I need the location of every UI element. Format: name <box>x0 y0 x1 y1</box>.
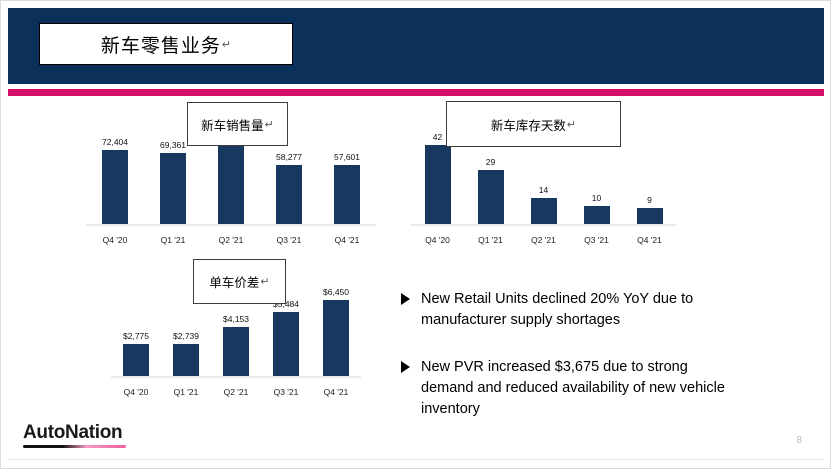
slide-title-box: 新车零售业务↵ <box>39 23 293 65</box>
bar-value-label: $2,775 <box>123 331 149 341</box>
bar-value-label: 57,601 <box>334 152 360 162</box>
category-label: Q4 '20 <box>111 387 161 397</box>
bar <box>223 327 249 377</box>
paragraph-mark-icon: ↵ <box>222 38 231 51</box>
bar-column: 57,601 <box>318 119 376 225</box>
category-label: Q2 '21 <box>202 235 260 245</box>
bar <box>123 344 149 377</box>
bar <box>276 165 302 225</box>
bar-value-label: $4,153 <box>223 314 249 324</box>
bar <box>273 312 299 378</box>
bar-value-label: 9 <box>647 195 652 205</box>
bar <box>478 170 504 225</box>
category-label: Q1 '21 <box>144 235 202 245</box>
bar-value-label: 14 <box>539 185 548 195</box>
bullet-text: New PVR increased $3,675 due to strong d… <box>421 357 741 420</box>
bar <box>102 150 128 225</box>
triangle-bullet-icon <box>401 293 410 305</box>
bar <box>425 145 451 225</box>
bar-value-label: 69,361 <box>160 140 186 150</box>
category-label: Q4 '20 <box>86 235 144 245</box>
bar <box>531 198 557 225</box>
bar <box>218 145 244 225</box>
bar-value-label: $2,739 <box>173 331 199 341</box>
bar-column: $2,775 <box>111 273 161 377</box>
chart-title-box-units: 新车销售量↵ <box>187 102 288 146</box>
bar <box>323 300 349 377</box>
category-label: Q2 '21 <box>517 235 570 245</box>
bar <box>637 208 663 225</box>
commentary-bullets: New Retail Units declined 20% YoY due to… <box>401 289 741 446</box>
bullet-item: New Retail Units declined 20% YoY due to… <box>401 289 741 331</box>
bar-value-label: $6,450 <box>323 287 349 297</box>
paragraph-mark-icon: ↵ <box>260 275 269 288</box>
chart-title-units: 新车销售量 <box>201 115 264 134</box>
page-title: 新车零售业务 <box>101 31 221 58</box>
bar-column: $6,450 <box>311 273 361 377</box>
chart-title-inventory-days: 新车库存天数 <box>491 115 566 134</box>
category-label: Q4 '21 <box>623 235 676 245</box>
logo-wordmark: AutoNation <box>23 422 126 444</box>
chart-new-vehicle-pvr: 单车价差↵ $2,775$2,739$4,153$5,484$6,450 Q4 … <box>111 273 361 399</box>
bullet-text: New Retail Units declined 20% YoY due to… <box>421 289 741 331</box>
header-accent-bar <box>8 89 824 96</box>
chart-new-vehicle-units: 新车销售量↵ 72,40469,36177,16458,27757,601 Q4… <box>86 119 376 247</box>
x-axis-line <box>111 376 361 378</box>
bar-value-label: 10 <box>592 193 601 203</box>
bar <box>584 206 610 225</box>
bar <box>173 344 199 377</box>
bar-column: 72,404 <box>86 119 144 225</box>
logo-underline-icon <box>23 445 126 448</box>
footer-divider <box>8 459 824 460</box>
paragraph-mark-icon: ↵ <box>567 118 576 131</box>
category-label: Q2 '21 <box>211 387 261 397</box>
category-label: Q3 '21 <box>260 235 318 245</box>
bar-value-label: 58,277 <box>276 152 302 162</box>
chart-title-box-pvr: 单车价差↵ <box>193 259 286 304</box>
chart-title-pvr: 单车价差 <box>209 272 259 291</box>
x-axis-line <box>86 224 376 226</box>
slide-canvas: 新车零售业务↵ 新车销售量↵ 72,40469,36177,16458,2775… <box>0 0 831 469</box>
category-labels-inventory-days: Q4 '20Q1 '21Q2 '21Q3 '21Q4 '21 <box>411 235 676 245</box>
bar-value-label: 42 <box>433 132 442 142</box>
category-labels-pvr: Q4 '20Q1 '21Q2 '21Q3 '21Q4 '21 <box>111 387 361 397</box>
category-label: Q3 '21 <box>570 235 623 245</box>
category-label: Q4 '21 <box>311 387 361 397</box>
page-number: 8 <box>796 435 802 446</box>
bar-column: 9 <box>623 119 676 225</box>
category-label: Q4 '21 <box>318 235 376 245</box>
category-label: Q4 '20 <box>411 235 464 245</box>
bullet-item: New PVR increased $3,675 due to strong d… <box>401 357 741 420</box>
category-label: Q1 '21 <box>464 235 517 245</box>
category-labels-units: Q4 '20Q1 '21Q2 '21Q3 '21Q4 '21 <box>86 235 376 245</box>
chart-new-vehicle-inventory-days: 新车库存天数↵ 422914109 Q4 '20Q1 '21Q2 '21Q3 '… <box>411 119 676 247</box>
category-label: Q1 '21 <box>161 387 211 397</box>
triangle-bullet-icon <box>401 361 410 373</box>
bar <box>334 165 360 225</box>
chart-title-box-inventory-days: 新车库存天数↵ <box>446 101 621 147</box>
autonation-logo: AutoNation <box>23 422 126 448</box>
paragraph-mark-icon: ↵ <box>265 118 274 131</box>
bar <box>160 153 186 225</box>
x-axis-line <box>411 224 676 226</box>
category-label: Q3 '21 <box>261 387 311 397</box>
bar-value-label: 29 <box>486 157 495 167</box>
bar-value-label: 72,404 <box>102 137 128 147</box>
